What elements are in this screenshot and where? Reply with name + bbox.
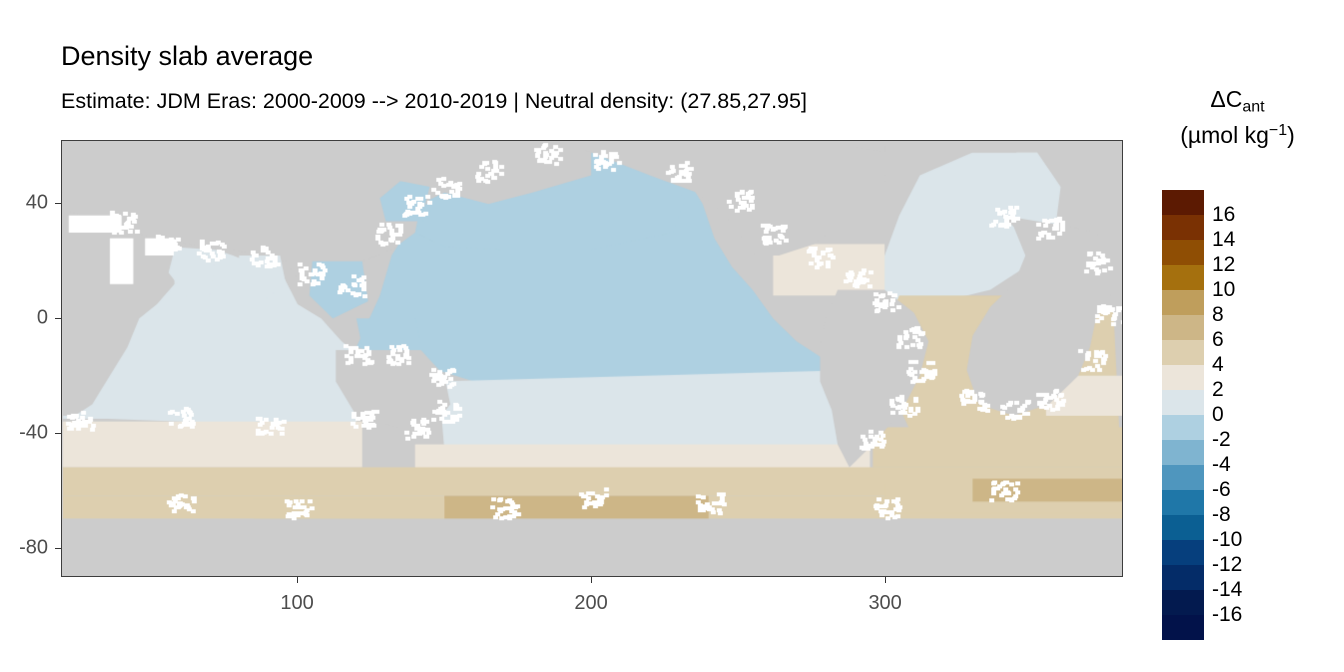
y-axis-tick-mark	[55, 548, 61, 549]
y-axis-tick-mark	[55, 318, 61, 319]
legend-title-main: ΔC	[1210, 86, 1242, 112]
y-axis-tick-mark	[55, 203, 61, 204]
colorbar-tick-label: -4	[1212, 453, 1272, 477]
legend-units: (µmol kg−1)	[1150, 116, 1325, 150]
y-axis-tick-mark	[55, 433, 61, 434]
colorbar-tick-label: -8	[1212, 503, 1272, 527]
colorbar-tick-label: -6	[1212, 478, 1272, 502]
colorbar-swatch	[1162, 365, 1204, 390]
colorbar-swatch	[1162, 190, 1204, 215]
y-axis-tick-label: 40	[0, 192, 48, 215]
y-axis-tick-label: -40	[0, 422, 48, 445]
y-axis-tick-label: -80	[0, 537, 48, 560]
x-axis-tick-mark	[885, 577, 886, 583]
colorbar-swatch	[1162, 215, 1204, 240]
legend-units-prefix: (µmol kg	[1180, 122, 1269, 148]
colorbar-tick-label: 2	[1212, 378, 1272, 402]
colorbar-tick-label: 4	[1212, 353, 1272, 377]
colorbar-swatch	[1162, 240, 1204, 265]
colorbar-legend: ΔCant (µmol kg−1) 1614121086420-2-4-6-8-…	[1150, 84, 1340, 654]
colorbar-swatch	[1162, 265, 1204, 290]
colorbar-swatch	[1162, 490, 1204, 515]
map-raster	[62, 141, 1122, 576]
map-panel	[61, 140, 1123, 577]
colorbar-swatch	[1162, 290, 1204, 315]
y-axis-tick-label: 0	[0, 307, 48, 330]
colorbar-swatch	[1162, 565, 1204, 590]
colorbar-swatch	[1162, 590, 1204, 615]
colorbar-swatch	[1162, 315, 1204, 340]
legend-units-suffix: )	[1287, 122, 1295, 148]
colorbar-swatch	[1162, 540, 1204, 565]
legend-title-subscript: ant	[1242, 98, 1264, 115]
colorbar-tick-label: -14	[1212, 578, 1272, 602]
colorbar-gradient	[1162, 190, 1204, 640]
legend-units-exponent: −1	[1269, 122, 1287, 139]
colorbar-tick-label: -16	[1212, 603, 1272, 627]
colorbar-tick-label: 6	[1212, 328, 1272, 352]
x-axis-tick-mark	[591, 577, 592, 583]
x-axis-tick-mark	[297, 577, 298, 583]
colorbar-tick-label: 16	[1212, 203, 1272, 227]
colorbar-tick-label: 14	[1212, 228, 1272, 252]
colorbar-tick-label: -10	[1212, 528, 1272, 552]
colorbar-swatch	[1162, 415, 1204, 440]
figure-root: Density slab average Estimate: JDM Eras:…	[0, 0, 1344, 672]
colorbar-tick-label: 8	[1212, 303, 1272, 327]
plot-subtitle: Estimate: JDM Eras: 2000-2009 --> 2010-2…	[61, 88, 807, 114]
colorbar-swatch	[1162, 465, 1204, 490]
colorbar-tick-label: 12	[1212, 253, 1272, 277]
colorbar-swatch	[1162, 515, 1204, 540]
colorbar-tick-label: 0	[1212, 403, 1272, 427]
colorbar-tick-label: -12	[1212, 553, 1272, 577]
x-axis-tick-label: 100	[280, 592, 313, 615]
colorbar-swatch	[1162, 440, 1204, 465]
colorbar-swatch	[1162, 390, 1204, 415]
colorbar-tick-label: -2	[1212, 428, 1272, 452]
x-axis-tick-label: 200	[574, 592, 607, 615]
x-axis-tick-label: 300	[868, 592, 901, 615]
colorbar-tick-label: 10	[1212, 278, 1272, 302]
colorbar-swatch	[1162, 340, 1204, 365]
page-title: Density slab average	[61, 40, 313, 72]
colorbar-swatch	[1162, 615, 1204, 640]
